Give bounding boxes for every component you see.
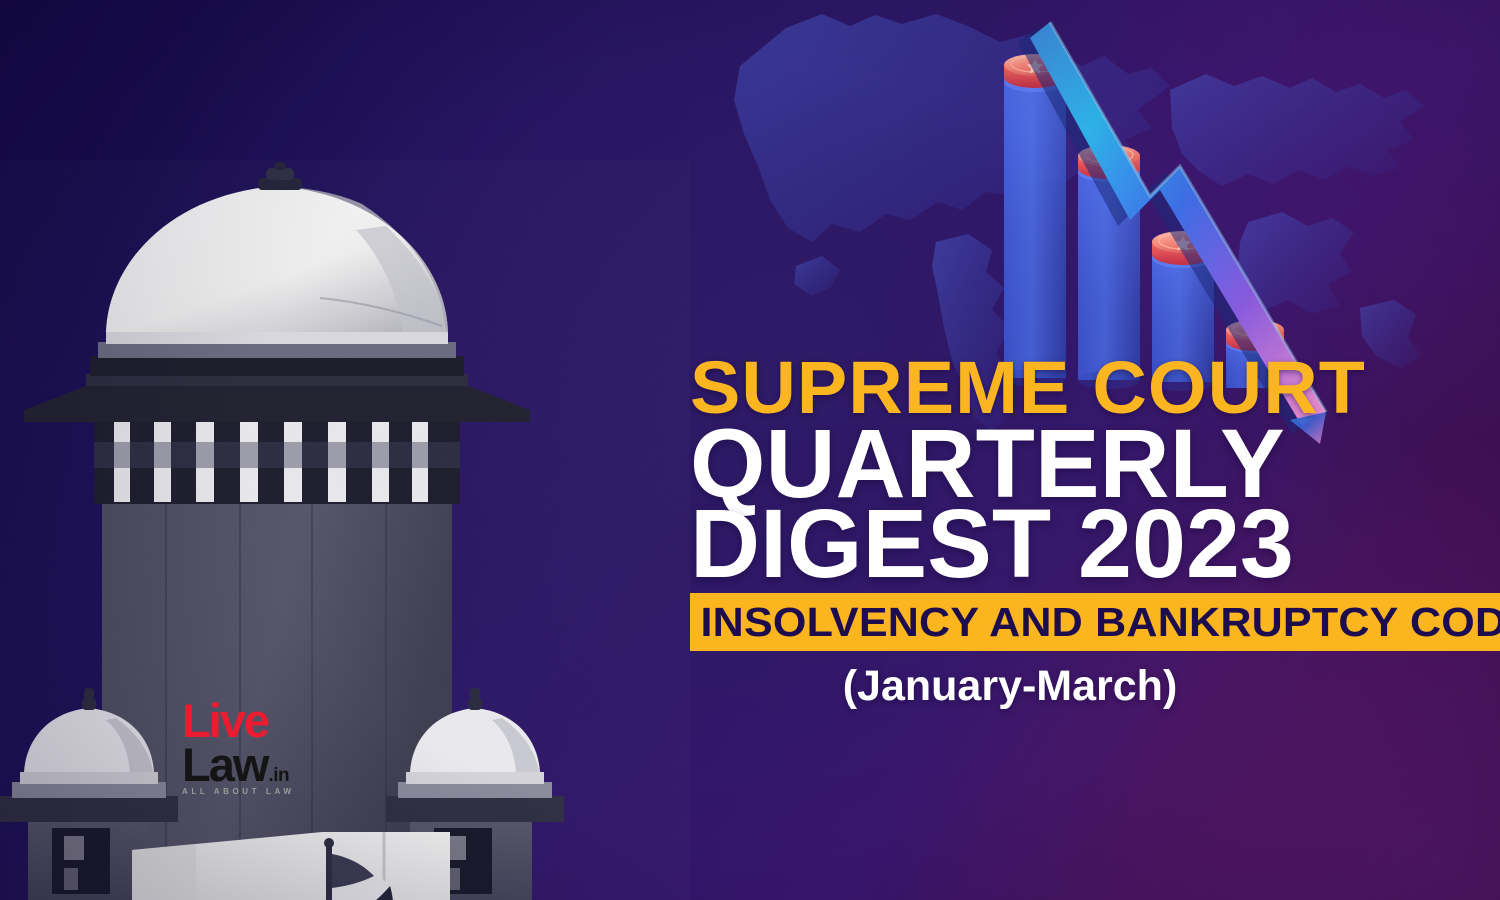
poster-canvas: Live Law.in ALL ABOUT LAW SUPREME COURT … (0, 0, 1500, 900)
logo-law-word: Law (182, 743, 267, 786)
livelaw-logo[interactable]: Live Law.in ALL ABOUT LAW (182, 698, 342, 798)
logo-domain-suffix: .in (268, 767, 289, 784)
period-label: (January-March) (700, 665, 1320, 708)
logo-tagline: ALL ABOUT LAW (182, 787, 342, 796)
headline-supreme-court: SUPREME COURT (690, 352, 1500, 423)
subject-banner: INSOLVENCY AND BANKRUPTCY CODE (690, 593, 1500, 651)
logo-law-text: Law.in (182, 743, 342, 786)
headline-digest-year: DIGEST 2023 (690, 499, 1490, 589)
logo-live-text: Live (182, 700, 342, 742)
headline-block: SUPREME COURT QUARTERLY DIGEST 2023 INSO… (690, 352, 1490, 708)
